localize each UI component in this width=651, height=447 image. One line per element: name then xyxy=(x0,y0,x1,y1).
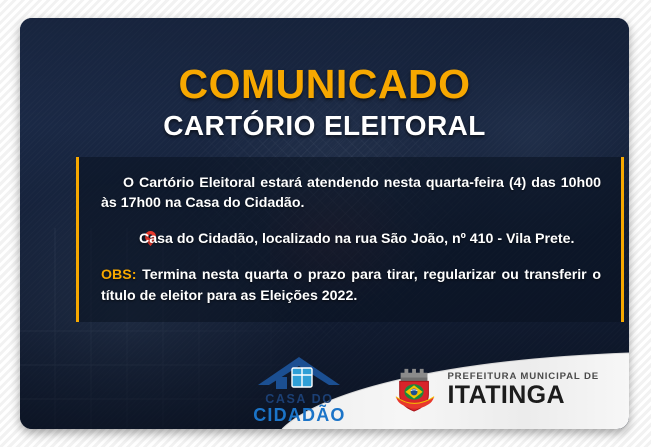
logo-prefeitura-line-2: ITATINGA xyxy=(447,383,599,408)
logo-prefeitura-itatinga: PREFEITURA MUNICIPAL DE ITATINGA xyxy=(392,365,599,415)
logo-prefeitura-wordmark: PREFEITURA MUNICIPAL DE ITATINGA xyxy=(447,372,599,408)
page-subtitle: CARTÓRIO ELEITORAL xyxy=(20,112,629,140)
logo-casa-line-1: CASA DO xyxy=(265,392,333,406)
house-roof-icon xyxy=(256,355,342,391)
location-pin-icon xyxy=(123,231,134,246)
poster-page: COMUNICADO CARTÓRIO ELEITORAL O Cartório… xyxy=(0,0,651,447)
announcement-card: COMUNICADO CARTÓRIO ELEITORAL O Cartório… xyxy=(20,18,629,429)
obs-text: Termina nesta quarta o prazo para tirar,… xyxy=(101,267,601,303)
page-title: COMUNICADO xyxy=(20,64,629,105)
logo-casa-do-cidadao: CASA DO CIDADÃO xyxy=(240,355,358,426)
obs-label: OBS: xyxy=(101,267,136,283)
message-box: O Cartório Eleitoral estará atendendo ne… xyxy=(76,157,624,322)
message-paragraph-schedule: O Cartório Eleitoral estará atendendo ne… xyxy=(101,173,601,213)
message-paragraph-address: Casa do Cidadão, localizado na rua São J… xyxy=(101,229,601,249)
logo-casa-line-2: CIDADÃO xyxy=(253,405,345,426)
coat-of-arms-icon xyxy=(392,365,438,415)
message-paragraph-obs: OBS: Termina nesta quarta o prazo para t… xyxy=(101,265,601,305)
footer-logos: CASA DO CIDADÃO xyxy=(20,351,629,429)
headline-block: COMUNICADO CARTÓRIO ELEITORAL xyxy=(20,64,629,140)
message-address-text: Casa do Cidadão, localizado na rua São J… xyxy=(139,231,574,247)
